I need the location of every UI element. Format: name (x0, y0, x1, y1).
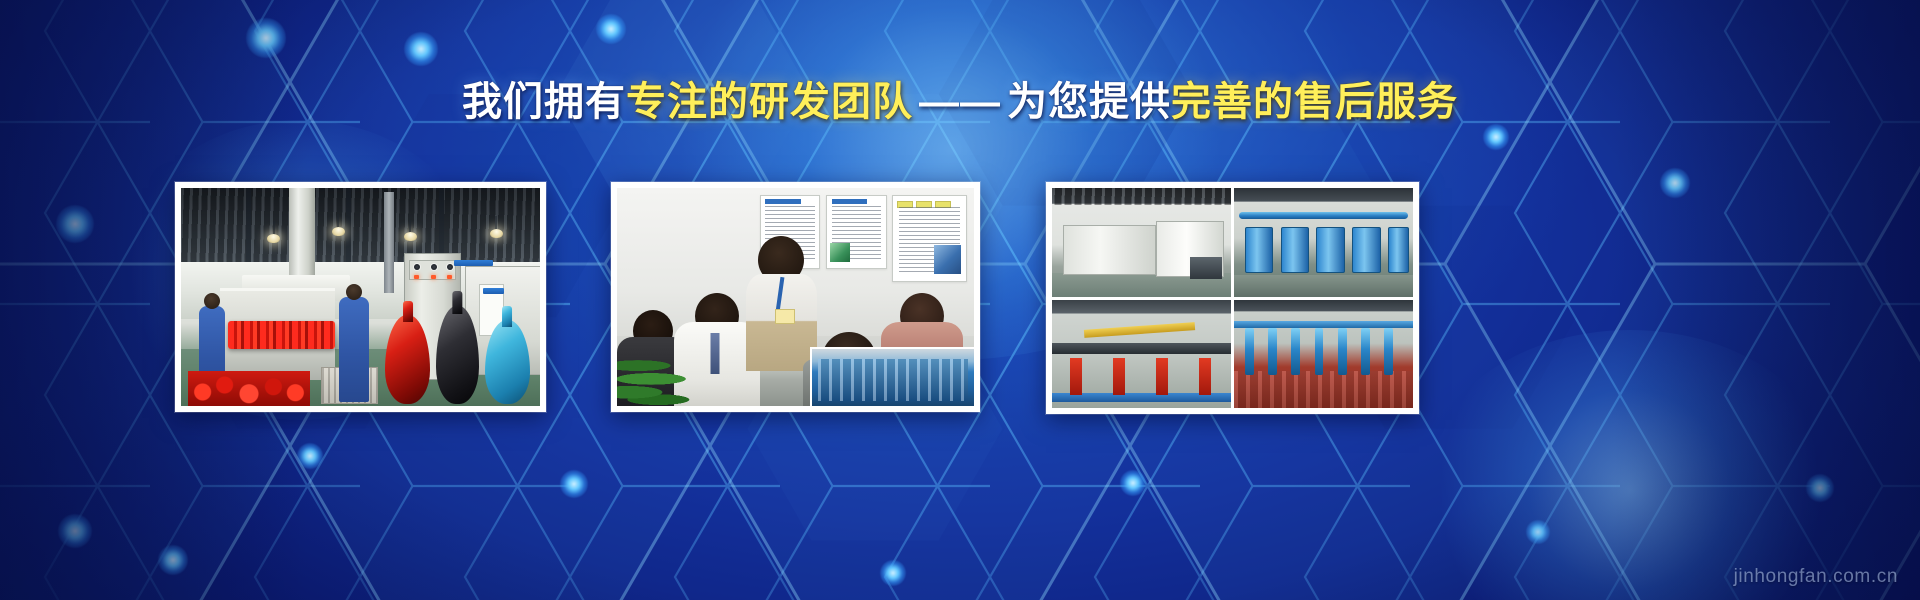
production-line-photo (181, 188, 540, 406)
mesh-node-icon (404, 32, 438, 66)
collage-cell-conveyor (1052, 300, 1231, 409)
mesh-node-icon (1483, 124, 1509, 150)
headline-dash: —— (913, 80, 1007, 124)
mesh-node-icon (880, 560, 906, 586)
photo-panel-production-line[interactable]: 生产车间 (175, 182, 546, 412)
headline-part-yellow-2: 完善的售后服务 (1171, 80, 1458, 124)
collage-cell-hanging-racks (1234, 300, 1413, 409)
headline-part-white-1: 我们拥有 (462, 80, 626, 124)
inset-machine-photo (810, 347, 974, 406)
site-watermark: jinhongfan.com.cn (1734, 566, 1898, 588)
collage-cell-oven-hall (1052, 188, 1231, 297)
promo-banner: 我们拥有专注的研发团队——为您提供完善的售后服务 (0, 0, 1920, 600)
headline-part-yellow-1: 专注的研发团队 (626, 80, 913, 124)
vase-blue (485, 320, 530, 404)
mesh-node-icon (58, 514, 92, 548)
mesh-node-icon (1526, 520, 1550, 544)
product-vases (382, 293, 533, 406)
mesh-node-icon (596, 14, 626, 44)
vase-black (436, 306, 478, 403)
team-meeting-photo (617, 188, 974, 406)
page-title: 我们拥有专注的研发团队——为您提供完善的售后服务 (0, 82, 1920, 122)
plant-foliage (617, 336, 703, 406)
mesh-node-icon (560, 470, 588, 498)
light-bloom (1420, 330, 1840, 600)
photo-frame (617, 188, 974, 406)
mesh-node-icon (297, 443, 323, 469)
mesh-node-icon (246, 18, 286, 58)
photo-frame (1052, 188, 1413, 408)
mesh-node-icon (1806, 474, 1834, 502)
photo-panel-team-meeting[interactable]: 研发团队会议 (611, 182, 980, 412)
mesh-node-icon (56, 205, 94, 243)
mesh-node-icon (158, 545, 188, 575)
factory-collage-photo (1052, 188, 1413, 408)
photo-panel-factory-equipment[interactable]: 厂房设备 (1046, 182, 1419, 414)
mesh-node-icon (1120, 470, 1146, 496)
collage-cell-blue-piping (1234, 188, 1413, 297)
vase-red (385, 315, 430, 403)
photo-frame (181, 188, 540, 406)
headline-part-white-2: 为您提供 (1007, 80, 1171, 124)
mesh-node-icon (1660, 168, 1690, 198)
